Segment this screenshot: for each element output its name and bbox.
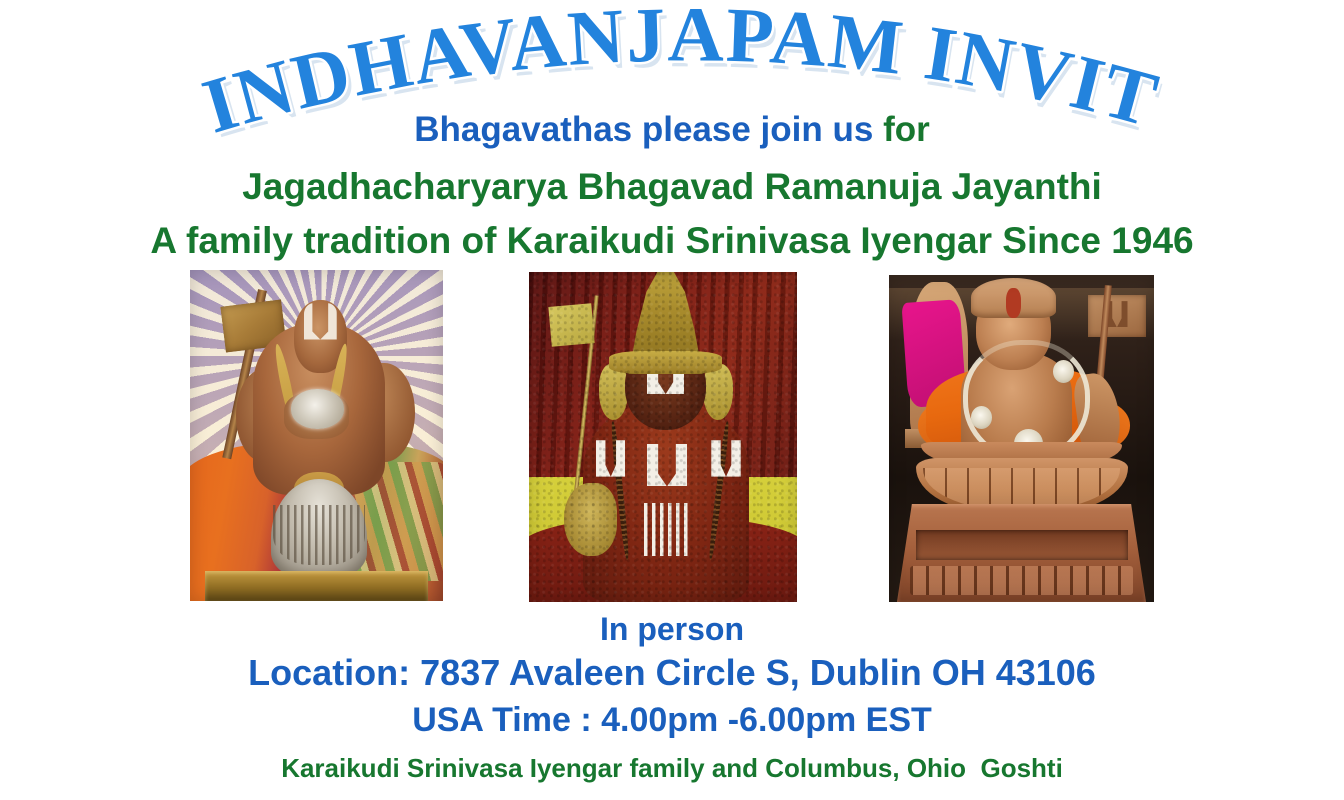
photo-grain-texture xyxy=(529,272,797,602)
invitation-canvas: BRINDHAVANJAPAM INVITES BRINDHAVANJAPAM … xyxy=(0,0,1344,800)
ramanuja-vintage-idol-photo xyxy=(529,272,797,602)
garland-flower xyxy=(971,406,992,429)
gold-pedestal xyxy=(205,571,428,601)
occasion-line: Jagadhacharyarya Bhagavad Ramanuja Jayan… xyxy=(0,168,1344,205)
ramanuja-copper-idol-art xyxy=(889,275,1154,602)
subtitle-green-text: for xyxy=(883,110,930,149)
mode-line: In person xyxy=(0,613,1344,645)
ramanuja-copper-idol-photo xyxy=(889,275,1154,602)
time-line: USA Time : 4.00pm -6.00pm EST xyxy=(0,703,1344,737)
tilak-icon xyxy=(1006,288,1022,317)
ramanuja-bronze-murti-art xyxy=(190,270,443,601)
photo-row xyxy=(0,270,1344,605)
ramanuja-bronze-murti-photo xyxy=(190,270,443,601)
plinth-carved-band xyxy=(916,530,1128,559)
ramanuja-vintage-idol-art xyxy=(529,272,797,602)
location-line: Location: 7837 Avaleen Circle S, Dublin … xyxy=(0,655,1344,691)
vessel-fluting xyxy=(273,505,364,565)
subtitle-line: Bhagavathas please join us for xyxy=(0,112,1344,147)
tradition-line: A family tradition of Karaikudi Srinivas… xyxy=(0,222,1344,259)
hosts-line: Karaikudi Srinivasa Iyengar family and C… xyxy=(0,755,1344,781)
subtitle-blue-text: Bhagavathas please join us xyxy=(414,110,883,149)
plinth-lower-moulding xyxy=(910,566,1133,595)
staff-flag xyxy=(1088,295,1146,338)
silver-ornament xyxy=(291,389,344,429)
